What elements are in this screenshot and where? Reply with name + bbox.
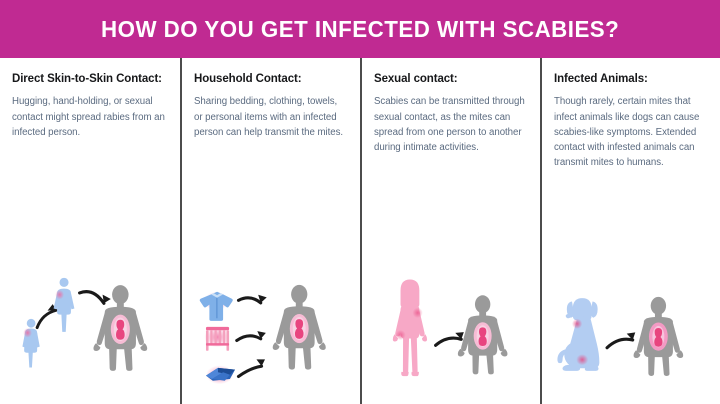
column-body-text: Scabies can be transmitted through sexua… — [374, 94, 528, 155]
column-heading: Sexual contact: — [374, 72, 528, 87]
arrow-right-top — [238, 295, 266, 303]
curved-arrow-right — [80, 292, 111, 304]
header-bar: HOW DO YOU GET INFECTED WITH SCABIES? — [0, 0, 720, 58]
columns-container: Direct Skin-to-Skin Contact: Hugging, ha… — [0, 58, 720, 404]
arrow-right-bottom — [238, 360, 265, 377]
standing-person-blue — [54, 278, 75, 332]
gray-human-figure-with-abdomen-rash — [634, 297, 684, 376]
illustration-woman-to-infected-person — [374, 159, 528, 404]
column-body-text: Hugging, hand-holding, or sexual contact… — [12, 94, 168, 140]
column-heading: Infected Animals: — [554, 72, 708, 87]
illustration-household-items-to-infected-person — [194, 144, 348, 404]
illustration-dog-to-infected-person — [554, 175, 708, 404]
column-household-contact: Household Contact: Sharing bedding, clot… — [180, 58, 360, 404]
navy-folded-bedding — [206, 366, 235, 385]
column-infected-animals: Infected Animals: Though rarely, certain… — [540, 58, 720, 404]
arrow-right-middle — [237, 331, 266, 340]
curved-arrow-right — [436, 333, 464, 346]
scabies-infographic: HOW DO YOU GET INFECTED WITH SCABIES? Di… — [0, 0, 720, 404]
blue-dog-figure-with-rash — [557, 298, 599, 371]
curved-arrow-up — [37, 304, 56, 327]
gray-human-figure-with-abdomen-rash — [458, 296, 508, 375]
column-direct-skin-contact: Direct Skin-to-Skin Contact: Hugging, ha… — [0, 58, 180, 404]
curved-arrow-right — [607, 332, 635, 347]
pink-towels — [204, 327, 230, 351]
column-body-text: Though rarely, certain mites that infect… — [554, 94, 708, 171]
page-title: HOW DO YOU GET INFECTED WITH SCABIES? — [101, 16, 619, 43]
column-heading: Household Contact: — [194, 72, 348, 87]
column-body-text: Sharing bedding, clothing, towels, or pe… — [194, 94, 348, 140]
pink-female-figure — [393, 280, 427, 377]
column-heading: Direct Skin-to-Skin Contact: — [12, 72, 168, 87]
gray-human-figure-with-abdomen-rash — [273, 285, 326, 370]
blue-shirt — [200, 292, 233, 321]
column-sexual-contact: Sexual contact: Scabies can be transmitt… — [360, 58, 540, 404]
illustration-two-people-to-infected-person — [12, 144, 168, 404]
